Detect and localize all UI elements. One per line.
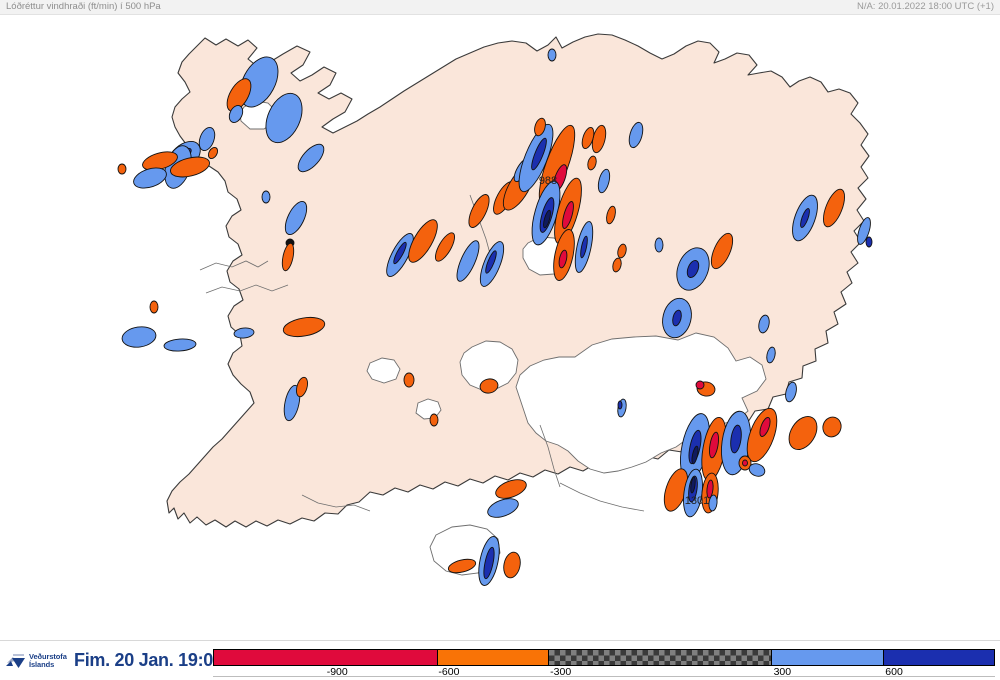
colorbar-segment-3 [771,650,882,665]
valid-time-label: Fim. 20 Jan. 19:00 [74,650,223,671]
logo-wordmark: Veðurstofa Íslands [29,653,67,668]
met-office-arrow-icon [6,652,26,670]
contour-label-988: 988 [539,175,557,187]
map-canvas[interactable]: 988 1301 [0,15,1000,640]
page-title: Lóðréttur vindhraði (ft/min) í 500 hPa [6,0,161,14]
glacier-small-nw [367,358,400,383]
value-label-1301: 1301 [685,495,709,507]
vedurstofa-logo[interactable]: Veðurstofa Íslands [6,648,72,674]
colorbar-segment-2 [548,650,771,665]
colorbar-segment-4 [883,650,994,665]
header-bar: Lóðréttur vindhraði (ft/min) í 500 hPa N… [0,0,1000,15]
colorbar-strip[interactable] [213,649,995,666]
colorbar-segment-0 [214,650,437,665]
model-status-text: N/A: 20.01.2022 18:00 UTC (+1) [857,0,994,14]
colorbar-legend[interactable]: -900-600-300300600 [213,649,995,677]
logo-line-2: Íslands [29,661,67,669]
weather-map-page: Lóðréttur vindhraði (ft/min) í 500 hPa N… [0,0,1000,680]
iceland-vertical-wind-map[interactable]: 988 1301 [0,15,1000,640]
footer-divider [213,676,995,677]
colorbar-segment-1 [437,650,548,665]
